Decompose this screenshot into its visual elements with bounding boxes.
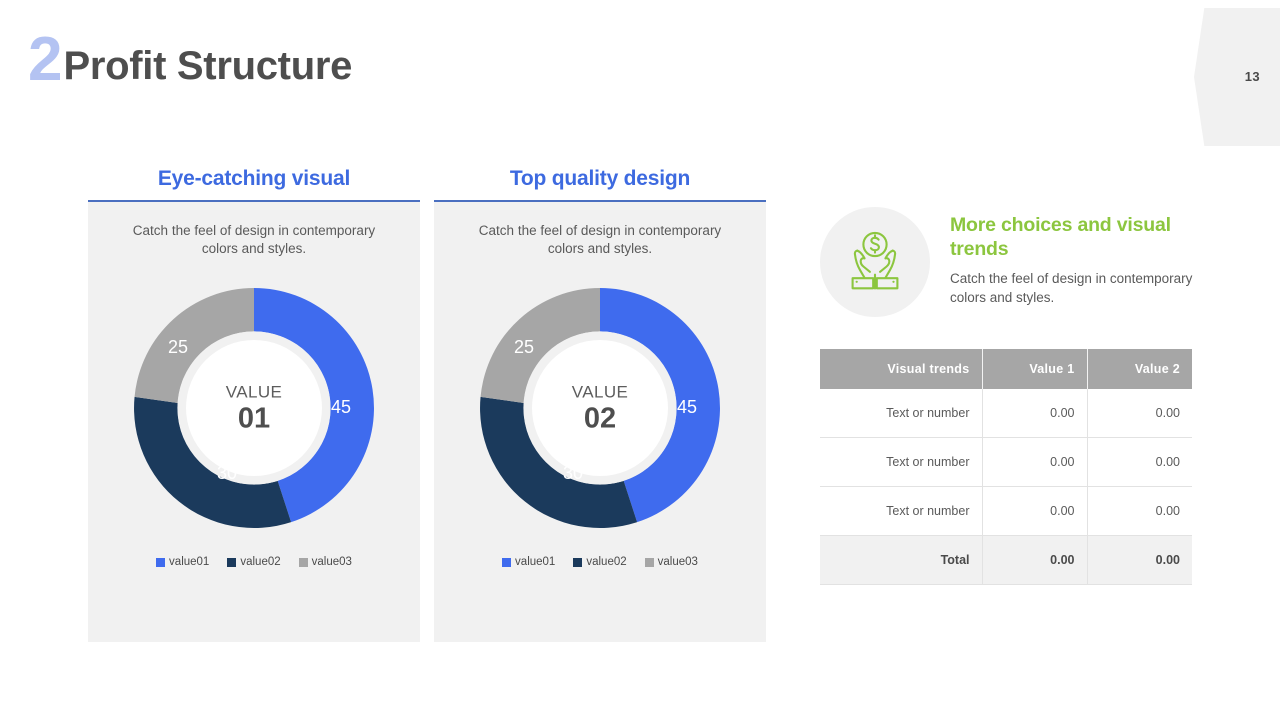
feature-description: Catch the feel of design in contemporary… <box>950 270 1194 306</box>
donut-1-label-45: 45 <box>331 397 351 417</box>
section-number: 2 <box>28 33 61 86</box>
table-row[interactable]: Text or number 0.00 0.00 <box>820 438 1192 487</box>
visual-trends-table[interactable]: Visual trends Value 1 Value 2 Text or nu… <box>820 349 1192 585</box>
legend2-swatch-value03 <box>645 558 654 567</box>
table-total-label: Total <box>820 536 982 585</box>
legend-label-value02: value02 <box>240 556 280 568</box>
legend-label-value01: value01 <box>169 556 209 568</box>
chart-card-1[interactable]: Eye-catching visual Catch the feel of de… <box>88 164 420 642</box>
table-header-value-2[interactable]: Value 2 <box>1087 349 1192 389</box>
legend2-item-value03[interactable]: value03 <box>645 556 698 568</box>
legend-swatch-value01 <box>156 558 165 567</box>
donut-2-label-30: 30 <box>563 463 583 483</box>
legend-swatch-value02 <box>227 558 236 567</box>
donut-1-center-label: VALUE <box>194 382 314 403</box>
table-body: Text or number 0.00 0.00 Text or number … <box>820 389 1192 585</box>
chart-card-2-title: Top quality design <box>434 164 766 200</box>
table-cell-value2: 0.00 <box>1087 487 1192 536</box>
donut-1-label-30: 30 <box>217 463 237 483</box>
table-total-row[interactable]: Total 0.00 0.00 <box>820 536 1192 585</box>
table-total-value1: 0.00 <box>982 536 1087 585</box>
chart-card-1-body: Catch the feel of design in contemporary… <box>88 202 420 642</box>
legend-item-value01[interactable]: value01 <box>156 556 209 568</box>
table-cell-value2: 0.00 <box>1087 389 1192 438</box>
donut-2-label-45: 45 <box>677 397 697 417</box>
table-cell-value1: 0.00 <box>982 487 1087 536</box>
table-row[interactable]: Text or number 0.00 0.00 <box>820 487 1192 536</box>
donut-chart-2[interactable]: 45 30 25 VALUE 02 <box>468 276 732 540</box>
legend-item-value02[interactable]: value02 <box>227 556 280 568</box>
feature-heading: More choices and visual trends <box>950 213 1194 261</box>
chart-card-1-title: Eye-catching visual <box>88 164 420 200</box>
hands-holding-money-icon <box>836 227 914 297</box>
donut-2-center-label: VALUE <box>540 382 660 403</box>
table-row[interactable]: Text or number 0.00 0.00 <box>820 389 1192 438</box>
page-number: 13 <box>1245 69 1260 84</box>
legend-label-value03: value03 <box>312 556 352 568</box>
legend2-label-value02: value02 <box>586 556 626 568</box>
chart-card-1-description: Catch the feel of design in contemporary… <box>124 222 384 258</box>
donut-1-label-25: 25 <box>168 337 188 357</box>
donut-1-center: VALUE 01 <box>194 382 314 435</box>
donut-2-center-value: 02 <box>540 403 660 435</box>
chart-card-2-description: Catch the feel of design in contemporary… <box>470 222 730 258</box>
donut-1-center-value: 01 <box>194 403 314 435</box>
table-cell-value2: 0.00 <box>1087 438 1192 487</box>
legend2-label-value03: value03 <box>658 556 698 568</box>
page-title: 2 Profit Structure <box>28 33 352 86</box>
legend-item-value03[interactable]: value03 <box>299 556 352 568</box>
table-cell-label: Text or number <box>820 487 982 536</box>
donut-2-center: VALUE 02 <box>540 382 660 435</box>
table-header-row: Visual trends Value 1 Value 2 <box>820 349 1192 389</box>
feature-icon-circle <box>820 207 930 317</box>
chart-2-legend: value01 value02 value03 <box>502 556 698 568</box>
legend-swatch-value03 <box>299 558 308 567</box>
legend2-item-value01[interactable]: value01 <box>502 556 555 568</box>
chart-card-2-body: Catch the feel of design in contemporary… <box>434 202 766 642</box>
donut-chart-1[interactable]: 45 30 25 VALUE 01 <box>122 276 386 540</box>
title-text: Profit Structure <box>63 46 352 86</box>
table-cell-label: Text or number <box>820 389 982 438</box>
chart-1-legend: value01 value02 value03 <box>156 556 352 568</box>
table-head: Visual trends Value 1 Value 2 <box>820 349 1192 389</box>
legend2-swatch-value02 <box>573 558 582 567</box>
donut-2-label-25: 25 <box>514 337 534 357</box>
table-cell-label: Text or number <box>820 438 982 487</box>
legend2-swatch-value01 <box>502 558 511 567</box>
table-total-value2: 0.00 <box>1087 536 1192 585</box>
chart-card-2[interactable]: Top quality design Catch the feel of des… <box>434 164 766 642</box>
table-cell-value1: 0.00 <box>982 389 1087 438</box>
feature-text: More choices and visual trends Catch the… <box>950 207 1194 317</box>
page-corner-shape <box>1194 8 1280 146</box>
legend2-label-value01: value01 <box>515 556 555 568</box>
table-header-value-1[interactable]: Value 1 <box>982 349 1087 389</box>
feature-block: More choices and visual trends Catch the… <box>820 207 1194 317</box>
slide: 13 2 Profit Structure Eye-catching visua… <box>0 0 1280 720</box>
table-cell-value1: 0.00 <box>982 438 1087 487</box>
table-header-visual-trends[interactable]: Visual trends <box>820 349 982 389</box>
legend2-item-value02[interactable]: value02 <box>573 556 626 568</box>
